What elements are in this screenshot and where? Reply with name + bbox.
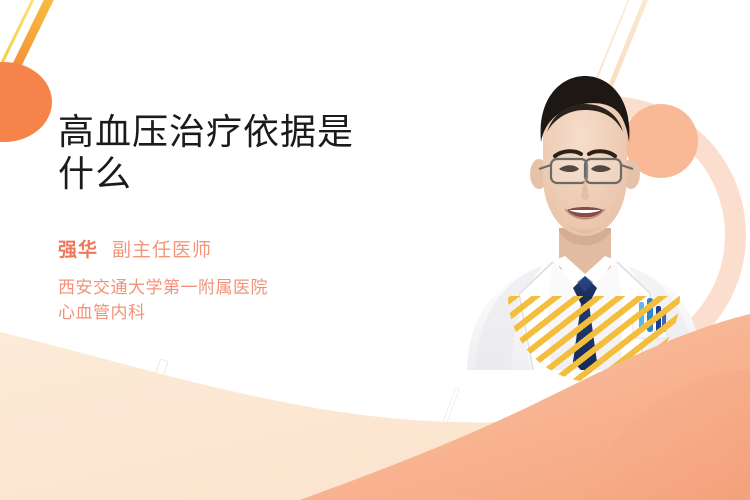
text-content-block: 高血压治疗依据是 什么 强华 副主任医师 西安交通大学第一附属医院 心血管内科 xyxy=(58,112,458,325)
orange-circle-decoration xyxy=(0,62,52,142)
byline: 强华 副主任医师 xyxy=(58,235,458,262)
doctor-title: 副主任医师 xyxy=(112,235,212,262)
bottom-wave-decoration xyxy=(0,310,750,500)
doctor-affiliation: 西安交通大学第一附属医院 心血管内科 xyxy=(58,276,458,325)
diagonal-stripe-orange-icon xyxy=(1,0,61,92)
doctor-video-cover-card: 高血压治疗依据是 什么 强华 副主任医师 西安交通大学第一附属医院 心血管内科 xyxy=(0,0,750,500)
doctor-name: 强华 xyxy=(58,235,98,262)
diagonal-stripe-yellow-icon xyxy=(0,0,38,106)
page-title: 高血压治疗依据是 什么 xyxy=(58,112,458,197)
